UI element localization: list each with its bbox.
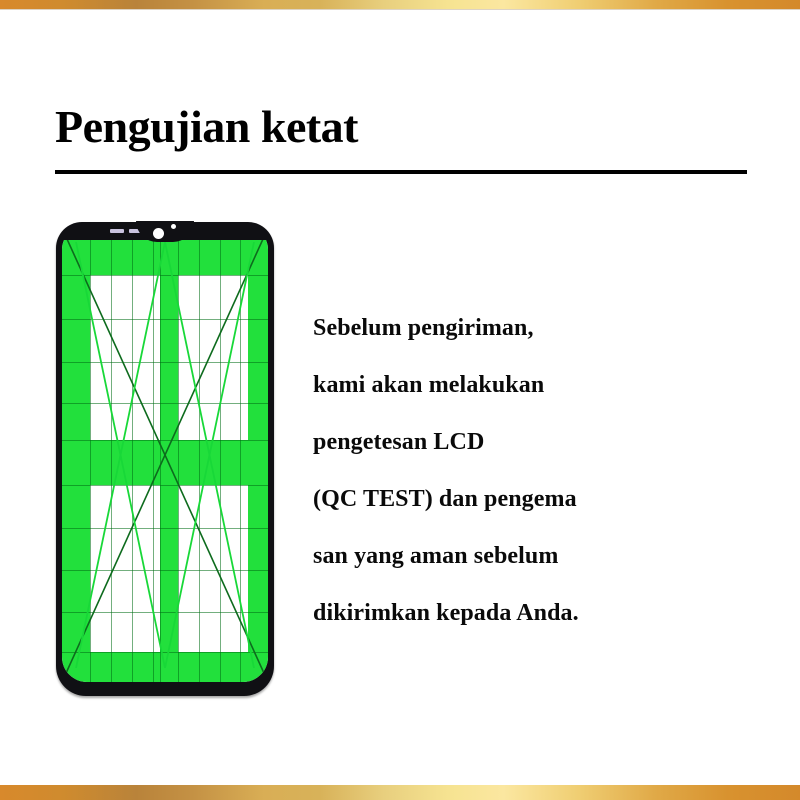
description-line: dikirimkan kepada Anda. (313, 585, 733, 642)
page-title: Pengujian ketat (55, 104, 747, 150)
description-paragraph: Sebelum pengiriman, kami akan melakukan … (313, 300, 733, 642)
diagonal-test-lines (62, 228, 268, 682)
description-line: (QC TEST) dan pengema (313, 471, 733, 528)
product-info-banner: Pengujian ketat (0, 0, 800, 800)
description-line: pengetesan LCD (313, 414, 733, 471)
phone-screen: x x (62, 228, 268, 682)
description-line: san yang aman sebelum (313, 528, 733, 585)
gold-bar-top (0, 0, 800, 9)
front-camera-icon (153, 228, 164, 239)
description-line: Sebelum pengiriman, (313, 300, 733, 357)
title-block: Pengujian ketat (55, 104, 747, 174)
proximity-sensor-icon (171, 224, 176, 229)
speaker-slit (110, 229, 124, 233)
gold-bar-bottom (0, 785, 800, 800)
lcd-test-pattern-phone: x x (56, 222, 274, 696)
title-divider (55, 170, 747, 174)
description-line: kami akan melakukan (313, 357, 733, 414)
